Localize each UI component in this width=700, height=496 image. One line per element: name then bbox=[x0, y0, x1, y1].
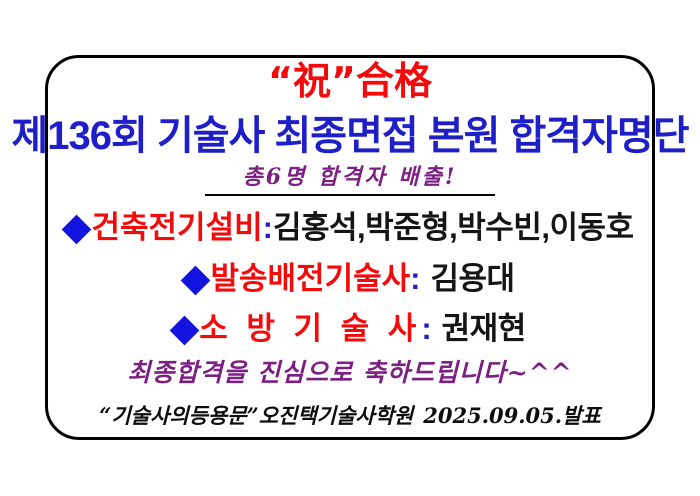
footer-academy-name: 오진택기술사학원 bbox=[259, 403, 414, 428]
result-row: 소 방 기 술 사:권재현 bbox=[0, 313, 700, 344]
diamond-bullet-icon bbox=[181, 266, 211, 296]
announcement-poster: “祝”合格 제136회 기술사 최종면접 본원 합격자명단 총6명 합격자 배출… bbox=[0, 0, 700, 496]
diamond-bullet-icon bbox=[62, 215, 92, 245]
congratulation-message: 최종합격을 진심으로 축하드립니다~^^ bbox=[0, 360, 700, 385]
footer-slogan: “기술사의등용문” bbox=[99, 403, 258, 428]
page-title-celebration: “祝”合格 bbox=[0, 62, 700, 100]
result-names: 권재현 bbox=[442, 311, 526, 346]
result-separator: : bbox=[410, 261, 420, 296]
result-separator: : bbox=[421, 311, 431, 346]
poster-content: “祝”合格 제136회 기술사 최종면접 본원 합격자명단 총6명 합격자 배출… bbox=[0, 0, 700, 496]
result-field-label: 건축전기설비 bbox=[91, 210, 262, 245]
result-row: 발송배전기술사:김용대 bbox=[0, 263, 700, 294]
result-row: 건축전기설비:김홍석,박준형,박수빈,이동호 bbox=[0, 212, 700, 243]
diamond-bullet-icon bbox=[170, 316, 200, 346]
page-subtitle-exam-round: 제136회 기술사 최종면접 본원 합격자명단 bbox=[0, 116, 700, 156]
result-names: 김용대 bbox=[430, 261, 514, 296]
result-separator: : bbox=[263, 210, 273, 245]
footer-announcement-date: 2025.09.05.발표 bbox=[423, 403, 600, 428]
count-underline-rule bbox=[205, 194, 495, 196]
passer-count-text: 총6명 합격자 배출! bbox=[0, 166, 700, 188]
poster-footer: “기술사의등용문”오진택기술사학원2025.09.05.발표 bbox=[0, 405, 700, 426]
result-names: 김홍석,박준형,박수빈,이동호 bbox=[273, 210, 634, 245]
result-field-label: 발송배전기술사 bbox=[210, 261, 410, 296]
result-field-label: 소 방 기 술 사 bbox=[199, 311, 421, 346]
